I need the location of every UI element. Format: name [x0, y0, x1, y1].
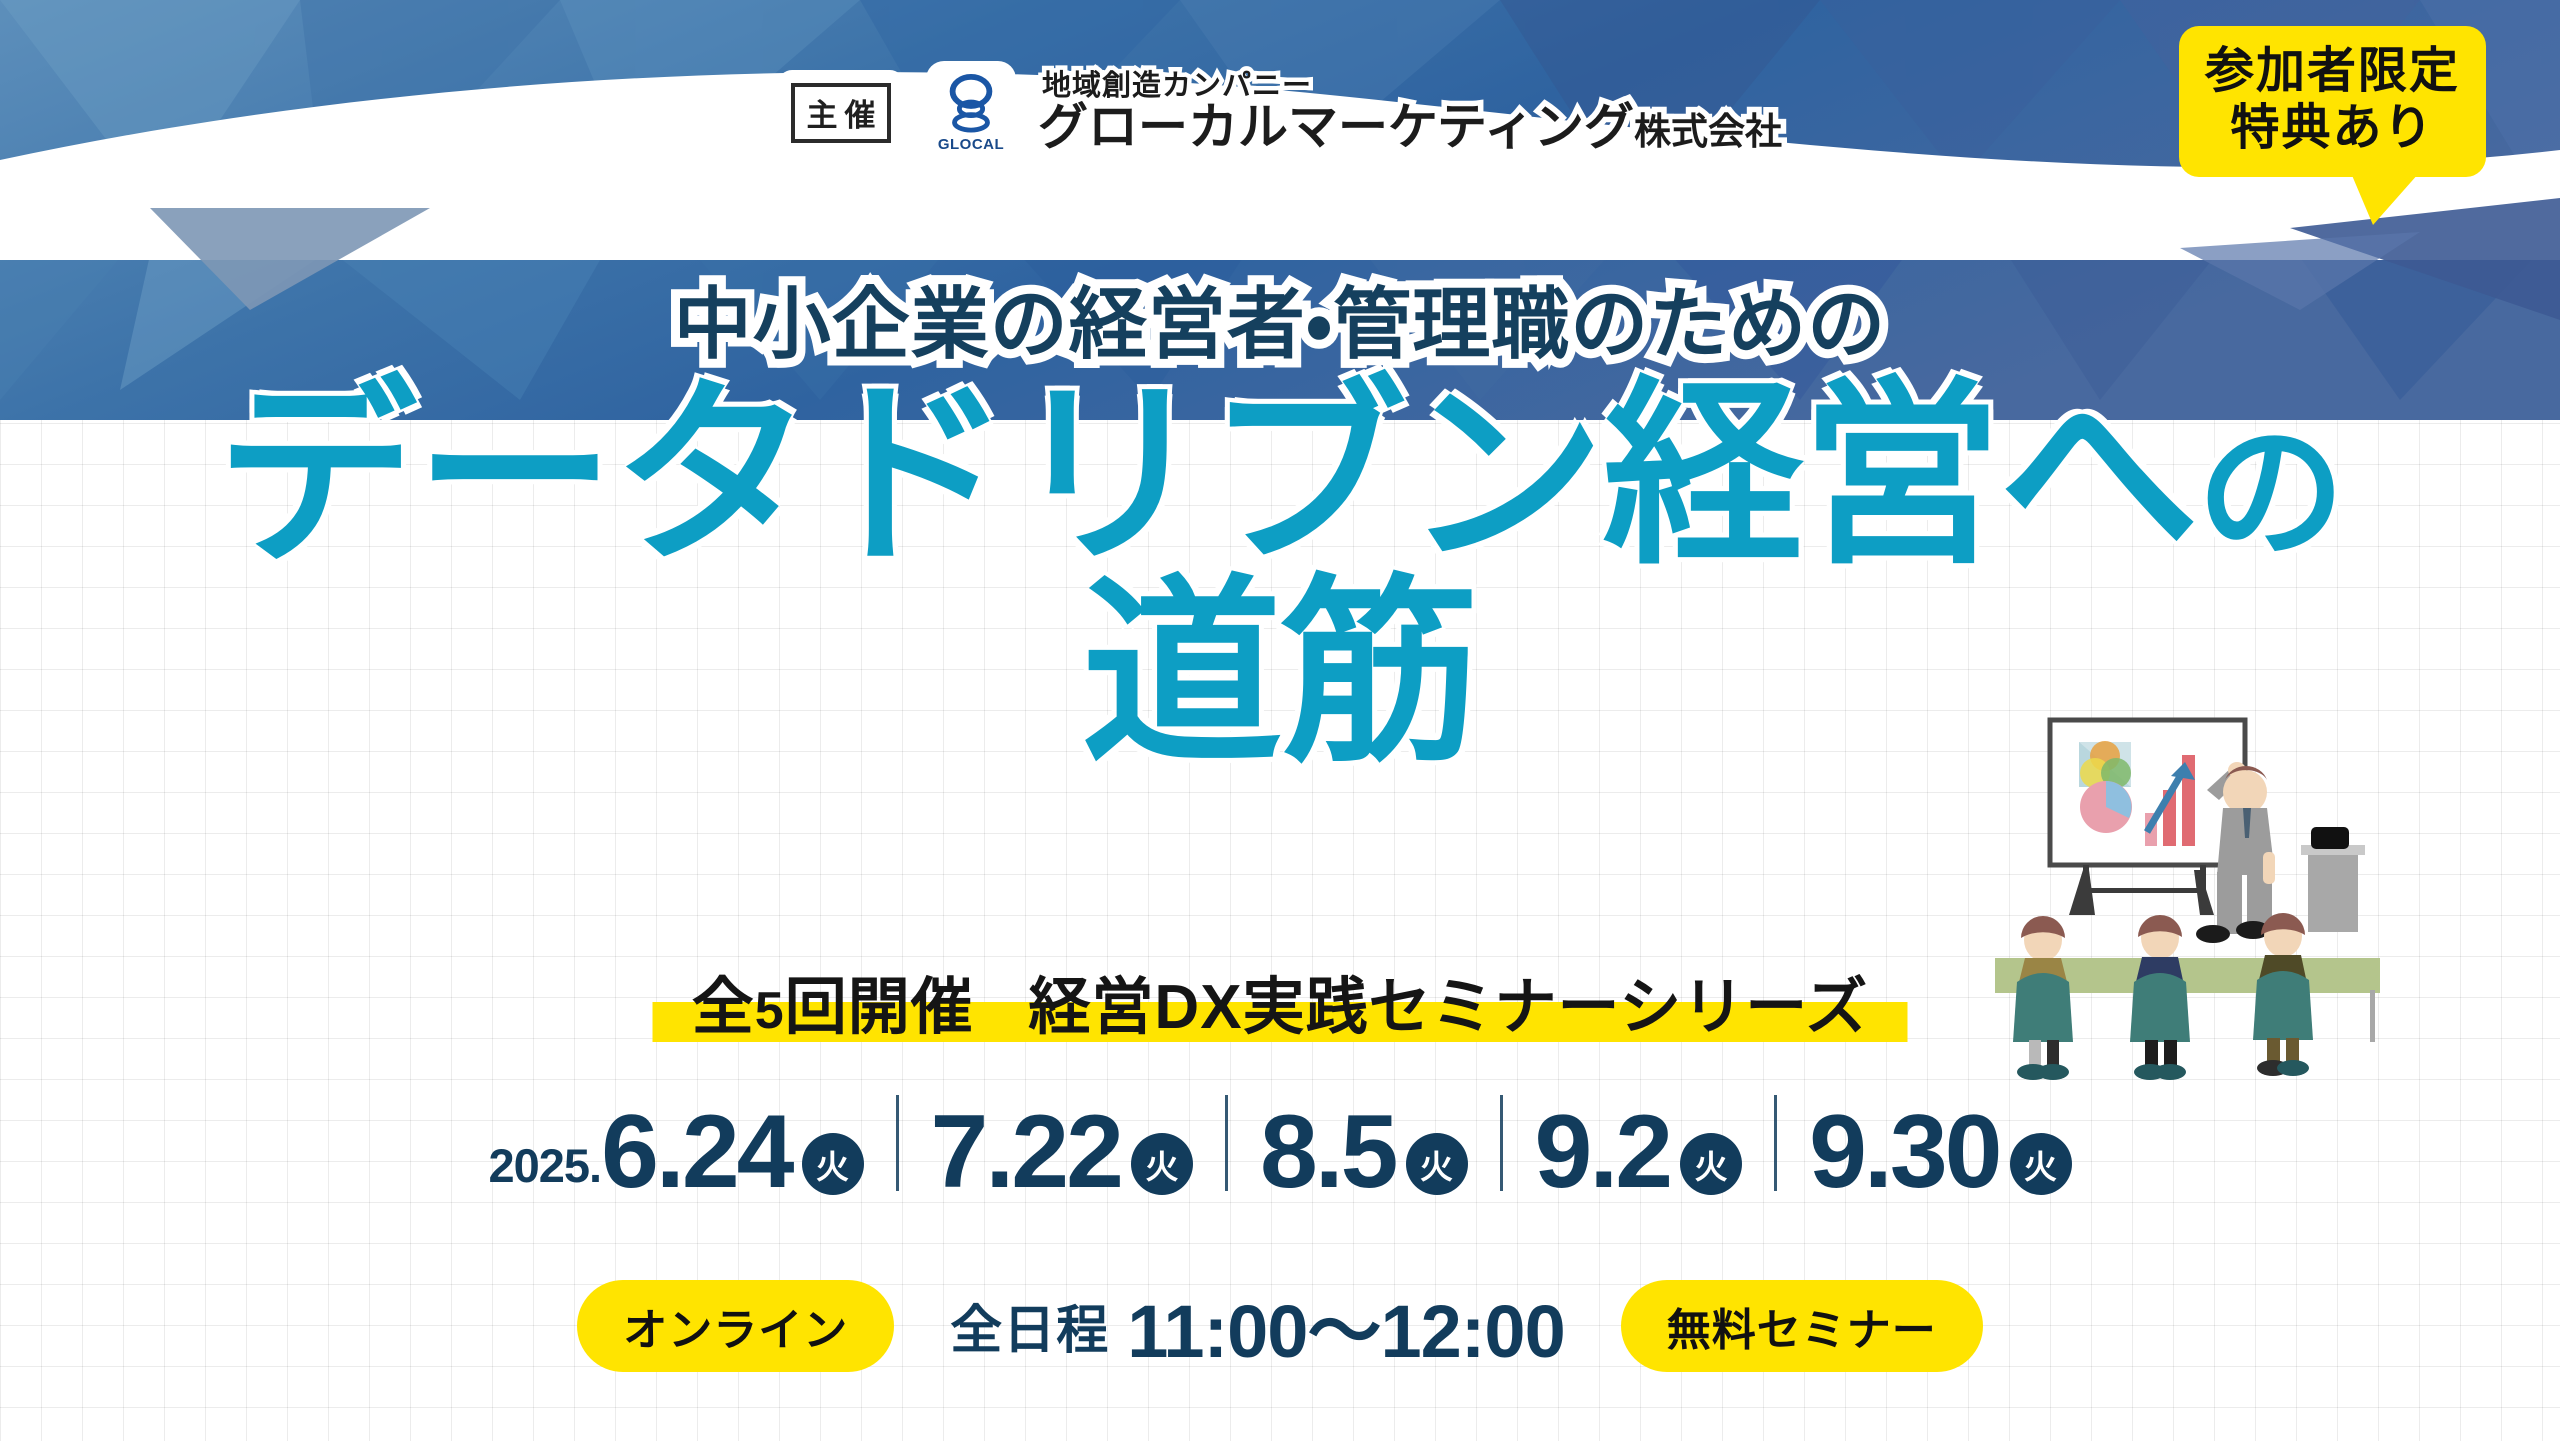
organizer-names: 地域創造カンパニー グローカルマーケティング株式会社 [1038, 71, 1782, 154]
series-line: 全5回開催 経営DX実践セミナーシリーズ [0, 965, 2560, 1051]
series-text: 全5回開催 経営DX実践セミナーシリーズ [692, 965, 1868, 1054]
date-dayofweek-badge: 火 [802, 1133, 864, 1195]
free-seminar-pill: 無料セミナー [1621, 1280, 1983, 1372]
subtitle: 中小企業の経営者・管理職のための [0, 262, 2560, 374]
company-suffix: 株式会社 [1634, 111, 1782, 152]
date-item: 2025. 6.24 火 [462, 1105, 889, 1201]
date-dayofweek-badge: 火 [1680, 1133, 1742, 1195]
host-label-text: 主催 [791, 83, 891, 143]
organizer-row: 主催 GLOCAL 地域創造カンパニー グローカルマーケティング株式会社 [0, 60, 2560, 165]
dates-row: 2025. 6.24 火 7.22 火 8.5 火 9.2 火 9.30 火 [0, 1095, 2560, 1201]
main-title-line-1-primary: データドリブン経営へ [217, 364, 2197, 587]
time-block: 全日程 11:00〜12:00 [950, 1272, 1564, 1379]
glocal-oval-mark-icon [940, 72, 1002, 134]
date-number: 7.22 [931, 1105, 1121, 1201]
series-count-prefix: 全 [692, 973, 755, 1042]
series-count-suffix: 回開催 [785, 973, 974, 1042]
date-separator [1500, 1095, 1503, 1191]
company-tagline: 地域創造カンパニー [1042, 71, 1782, 101]
host-label-badge: 主催 [778, 70, 904, 156]
date-item: 8.5 火 [1234, 1105, 1494, 1201]
date-dayofweek-badge: 火 [2010, 1133, 2072, 1195]
glocal-logo: GLOCAL [926, 61, 1016, 165]
main-title-line-1-particle: の [2197, 411, 2343, 576]
date-dayofweek-badge: 火 [1131, 1133, 1193, 1195]
perk-badge-line1: 参加者限定 [2205, 43, 2460, 100]
perk-badge-line2: 特典あり [2205, 100, 2460, 157]
date-item: 9.30 火 [1783, 1105, 2097, 1201]
date-item: 7.22 火 [905, 1105, 1219, 1201]
date-number: 8.5 [1260, 1105, 1396, 1201]
series-name: 経営DX実践セミナーシリーズ [1028, 973, 1868, 1042]
online-pill: オンライン [577, 1280, 894, 1372]
main-title-line-2: 道筋 [0, 578, 2560, 770]
company-name: グローカルマーケティング [1038, 99, 1634, 155]
main-title-line-1: データドリブン経営への [0, 380, 2560, 572]
date-number: 9.2 [1535, 1105, 1671, 1201]
seminar-banner: 主催 GLOCAL 地域創造カンパニー グローカルマーケティング株式会社 参加者… [0, 0, 2560, 1441]
perk-badge: 参加者限定 特典あり [2179, 26, 2486, 177]
main-title: データドリブン経営への 道筋 [0, 380, 2560, 770]
company-name-row: グローカルマーケティング株式会社 [1038, 101, 1782, 154]
time-value: 11:00〜12:00 [1127, 1272, 1564, 1379]
series-count-number: 5 [755, 982, 785, 1040]
date-separator [1774, 1095, 1777, 1191]
date-number: 9.30 [1809, 1105, 1999, 1201]
date-separator [1225, 1095, 1228, 1191]
glocal-wordmark: GLOCAL [938, 136, 1004, 153]
date-year-prefix: 2025. [488, 1138, 601, 1201]
date-dayofweek-badge: 火 [1406, 1133, 1468, 1195]
time-label: 全日程 [950, 1288, 1109, 1363]
date-number: 6.24 [601, 1105, 791, 1201]
date-item: 9.2 火 [1509, 1105, 1769, 1201]
date-separator [896, 1095, 899, 1191]
bottom-info-row: オンライン 全日程 11:00〜12:00 無料セミナー [0, 1272, 2560, 1379]
